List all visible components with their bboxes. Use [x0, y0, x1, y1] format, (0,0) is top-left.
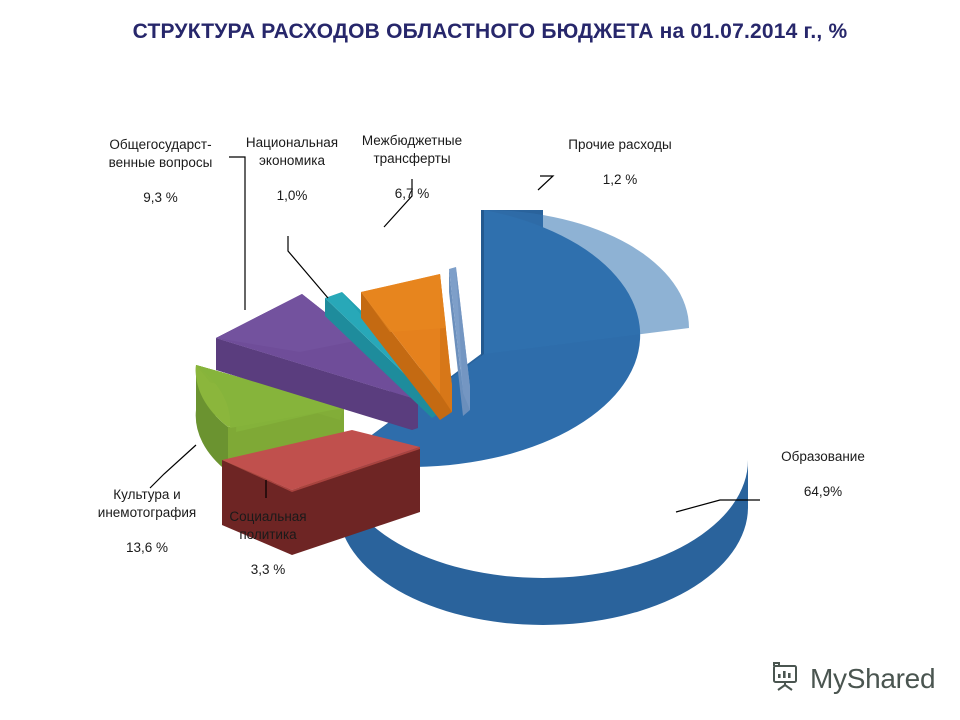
pie-label-obshchegosudarstvennye-value: 9,3 %: [88, 189, 233, 207]
pie-label-obrazovanie: Образование 64,9%: [758, 430, 888, 519]
pie-label-kultura-value: 13,6 %: [72, 539, 222, 557]
slide-canvas: СТРУКТУРА РАСХОДОВ ОБЛАСТНОГО БЮДЖЕТА на…: [0, 0, 960, 720]
pie-label-natsionalnaya-ekonomika-name: Национальная экономика: [232, 134, 352, 170]
pie-label-mezhbyudzhetnye-transferty-value: 6,7 %: [348, 185, 476, 203]
myshared-watermark: MyShared: [770, 660, 935, 697]
pie-label-obshchegosudarstvennye-name: Общегосударст- венные вопросы: [88, 136, 233, 172]
pie-label-sotsialnaya-politika: Социальная политика 3,3 %: [206, 490, 330, 597]
pie-label-mezhbyudzhetnye-transferty: Межбюджетные трансферты 6,7 %: [348, 114, 476, 221]
leader-line-natsionalnaya-ekonomika: [288, 236, 328, 298]
pie-label-sotsialnaya-politika-value: 3,3 %: [206, 561, 330, 579]
pie-label-obshchegosudarstvennye: Общегосударст- венные вопросы 9,3 %: [88, 118, 233, 225]
chart-title: СТРУКТУРА РАСХОДОВ ОБЛАСТНОГО БЮДЖЕТА на…: [60, 20, 920, 44]
pie-label-obrazovanie-value: 64,9%: [758, 483, 888, 501]
pie-label-sotsialnaya-politika-name: Социальная политика: [206, 508, 330, 544]
pie-label-kultura-name: Культура и инемотография: [72, 486, 222, 522]
pie-label-prochie-raskhody-value: 1,2 %: [546, 171, 694, 189]
pie-label-kultura: Культура и инемотография 13,6 %: [72, 468, 222, 575]
pie-label-prochie-raskhody: Прочие расходы 1,2 %: [546, 118, 694, 207]
presentation-board-icon: [770, 660, 802, 697]
pie-label-obrazovanie-name: Образование: [758, 448, 888, 466]
pie-label-natsionalnaya-ekonomika: Национальная экономика 1,0%: [232, 116, 352, 223]
myshared-brand-text: MyShared: [810, 663, 935, 695]
pie-label-mezhbyudzhetnye-transferty-name: Межбюджетные трансферты: [348, 132, 476, 168]
pie-label-natsionalnaya-ekonomika-value: 1,0%: [232, 187, 352, 205]
pie-label-prochie-raskhody-name: Прочие расходы: [546, 136, 694, 154]
